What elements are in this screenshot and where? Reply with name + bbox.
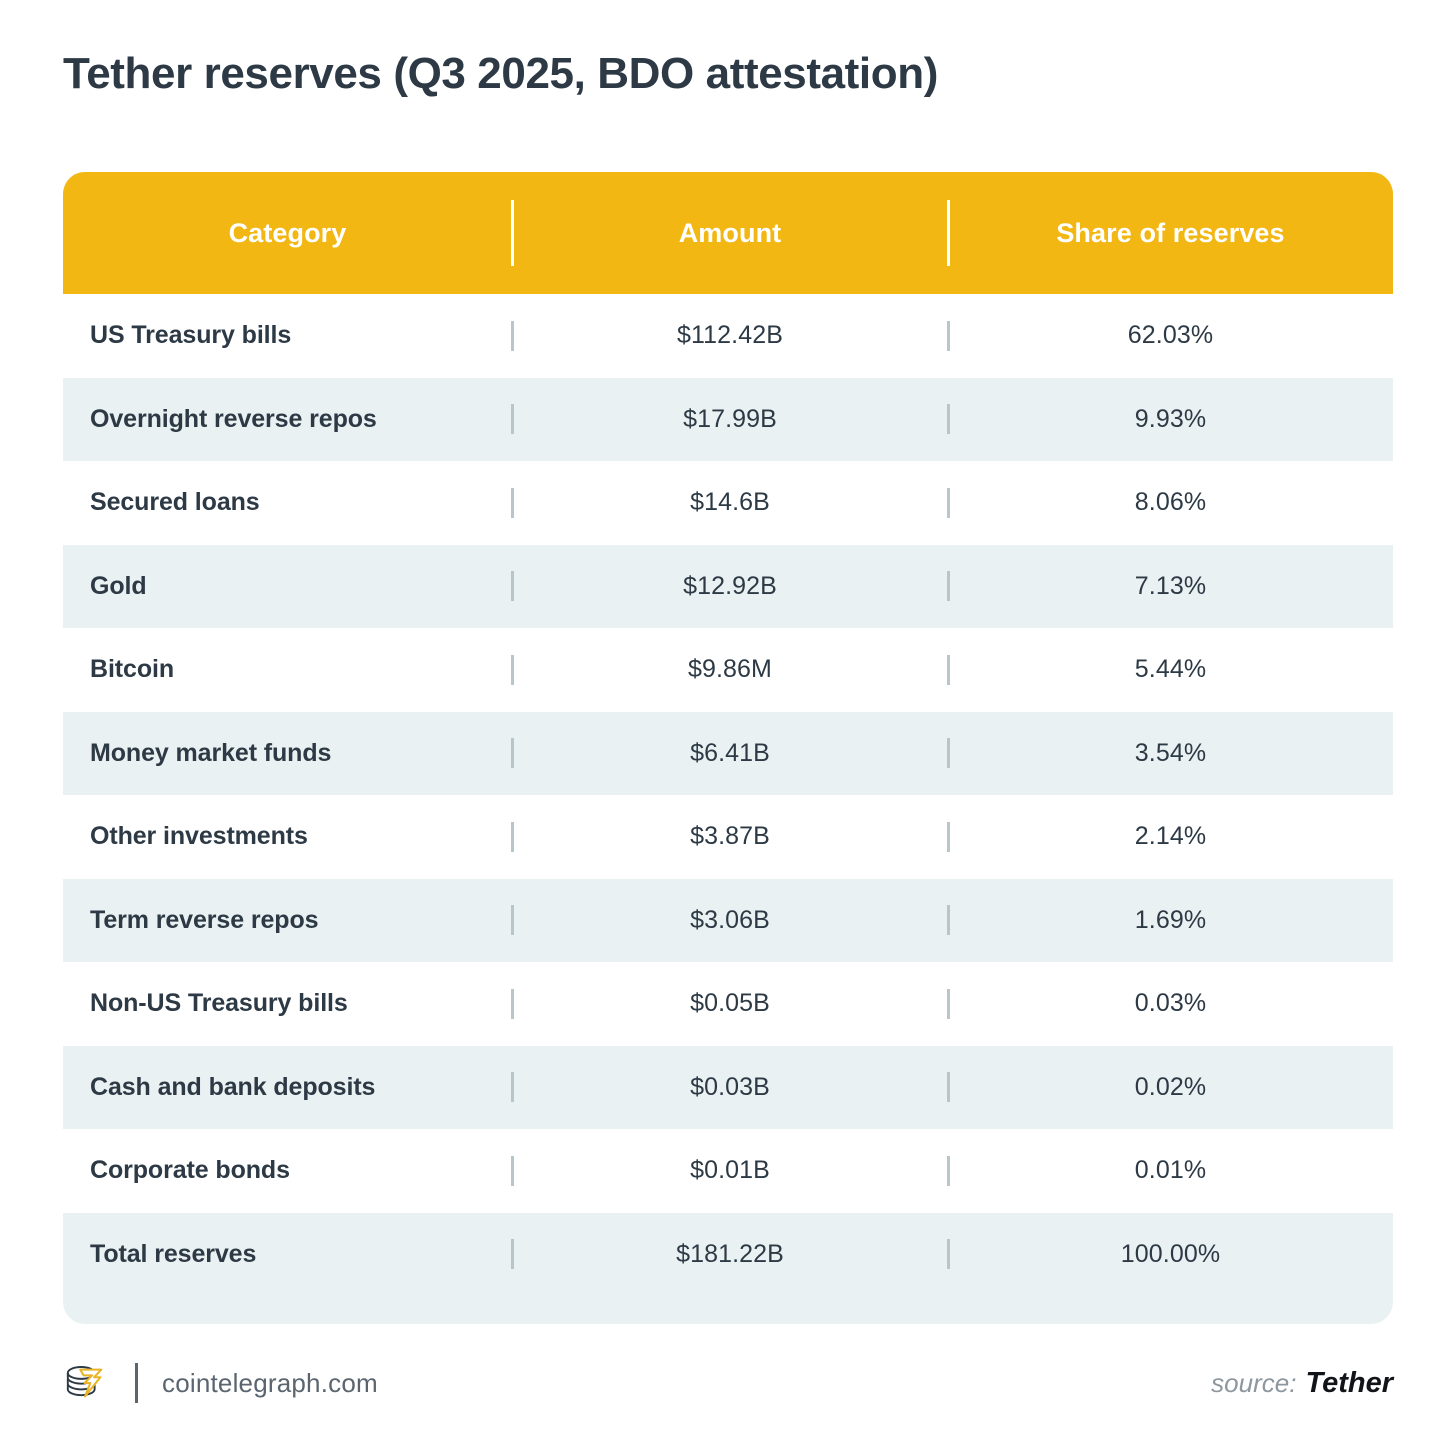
- row-column-divider-1: [511, 738, 514, 768]
- infographic-page: Tether reserves (Q3 2025, BDO attestatio…: [0, 0, 1450, 1455]
- row-column-divider-1: [511, 989, 514, 1019]
- cell-category: Non-US Treasury bills: [63, 989, 512, 1018]
- column-header-category: Category: [63, 218, 512, 249]
- cell-amount: $12.92B: [512, 572, 948, 601]
- row-column-divider-1: [511, 655, 514, 685]
- footer-website-url[interactable]: cointelegraph.com: [162, 1368, 378, 1399]
- row-column-divider-1: [511, 1239, 514, 1269]
- footer-divider: [135, 1363, 138, 1403]
- cell-share: 7.13%: [948, 572, 1393, 601]
- row-column-divider-2: [947, 738, 950, 768]
- cell-amount: $9.86M: [512, 655, 948, 684]
- row-column-divider-1: [511, 905, 514, 935]
- row-column-divider-2: [947, 488, 950, 518]
- table-row: Money market funds$6.41B3.54%: [63, 712, 1393, 796]
- cell-share: 100.00%: [948, 1240, 1393, 1269]
- reserves-table: Category Amount Share of reserves US Tre…: [63, 172, 1393, 1324]
- cell-share: 0.02%: [948, 1073, 1393, 1102]
- source-label: source:: [1211, 1368, 1296, 1399]
- cell-share: 2.14%: [948, 822, 1393, 851]
- table-row: Corporate bonds$0.01B0.01%: [63, 1129, 1393, 1213]
- footer: cointelegraph.com source: Tether: [63, 1348, 1393, 1418]
- row-column-divider-1: [511, 1072, 514, 1102]
- cell-category: Bitcoin: [63, 655, 512, 684]
- header-column-divider-1: [511, 200, 514, 266]
- row-column-divider-1: [511, 571, 514, 601]
- cell-amount: $6.41B: [512, 739, 948, 768]
- row-column-divider-2: [947, 655, 950, 685]
- cell-category: Other investments: [63, 822, 512, 851]
- cell-amount: $3.87B: [512, 822, 948, 851]
- table-row: Total reserves$181.22B100.00%: [63, 1213, 1393, 1297]
- table-row: US Treasury bills$112.42B62.03%: [63, 294, 1393, 378]
- cell-amount: $3.06B: [512, 906, 948, 935]
- table-row: Term reverse repos$3.06B1.69%: [63, 879, 1393, 963]
- row-column-divider-2: [947, 822, 950, 852]
- cell-amount: $112.42B: [512, 321, 948, 350]
- cell-category: Secured loans: [63, 488, 512, 517]
- row-column-divider-1: [511, 822, 514, 852]
- header-column-divider-2: [947, 200, 950, 266]
- cell-amount: $14.6B: [512, 488, 948, 517]
- cell-share: 0.01%: [948, 1156, 1393, 1185]
- row-column-divider-2: [947, 989, 950, 1019]
- table-row: Other investments$3.87B2.14%: [63, 795, 1393, 879]
- cell-category: Overnight reverse repos: [63, 405, 512, 434]
- row-column-divider-2: [947, 1156, 950, 1186]
- cell-share: 8.06%: [948, 488, 1393, 517]
- cell-category: Total reserves: [63, 1240, 512, 1269]
- table-bottom-padding: [63, 1296, 1393, 1324]
- column-header-amount: Amount: [512, 218, 948, 249]
- cell-category: Money market funds: [63, 739, 512, 768]
- cell-amount: $181.22B: [512, 1240, 948, 1269]
- footer-brand: cointelegraph.com: [63, 1348, 378, 1418]
- row-column-divider-1: [511, 404, 514, 434]
- cell-share: 62.03%: [948, 321, 1393, 350]
- row-column-divider-2: [947, 321, 950, 351]
- row-column-divider-2: [947, 905, 950, 935]
- row-column-divider-1: [511, 321, 514, 351]
- page-title: Tether reserves (Q3 2025, BDO attestatio…: [63, 48, 1383, 101]
- cell-category: US Treasury bills: [63, 321, 512, 350]
- row-column-divider-2: [947, 1072, 950, 1102]
- cell-amount: $17.99B: [512, 405, 948, 434]
- table-body: US Treasury bills$112.42B62.03%Overnight…: [63, 294, 1393, 1296]
- cell-share: 0.03%: [948, 989, 1393, 1018]
- row-column-divider-1: [511, 1156, 514, 1186]
- row-column-divider-1: [511, 488, 514, 518]
- table-row: Non-US Treasury bills$0.05B0.03%: [63, 962, 1393, 1046]
- table-row: Gold$12.92B7.13%: [63, 545, 1393, 629]
- cointelegraph-logo-icon: [63, 1360, 109, 1406]
- cell-share: 1.69%: [948, 906, 1393, 935]
- table-row: Bitcoin$9.86M5.44%: [63, 628, 1393, 712]
- table-header-row: Category Amount Share of reserves: [63, 172, 1393, 294]
- source-value: Tether: [1305, 1367, 1393, 1400]
- row-column-divider-2: [947, 404, 950, 434]
- row-column-divider-2: [947, 571, 950, 601]
- footer-source: source: Tether: [1211, 1348, 1393, 1418]
- cell-category: Term reverse repos: [63, 906, 512, 935]
- table-row: Cash and bank deposits$0.03B0.02%: [63, 1046, 1393, 1130]
- cell-category: Cash and bank deposits: [63, 1073, 512, 1102]
- cell-share: 5.44%: [948, 655, 1393, 684]
- cell-category: Corporate bonds: [63, 1156, 512, 1185]
- cell-amount: $0.05B: [512, 989, 948, 1018]
- column-header-share: Share of reserves: [948, 218, 1393, 249]
- cell-category: Gold: [63, 572, 512, 601]
- table-row: Secured loans$14.6B8.06%: [63, 461, 1393, 545]
- cell-amount: $0.01B: [512, 1156, 948, 1185]
- cell-share: 9.93%: [948, 405, 1393, 434]
- cell-share: 3.54%: [948, 739, 1393, 768]
- cell-amount: $0.03B: [512, 1073, 948, 1102]
- table-row: Overnight reverse repos$17.99B9.93%: [63, 378, 1393, 462]
- row-column-divider-2: [947, 1239, 950, 1269]
